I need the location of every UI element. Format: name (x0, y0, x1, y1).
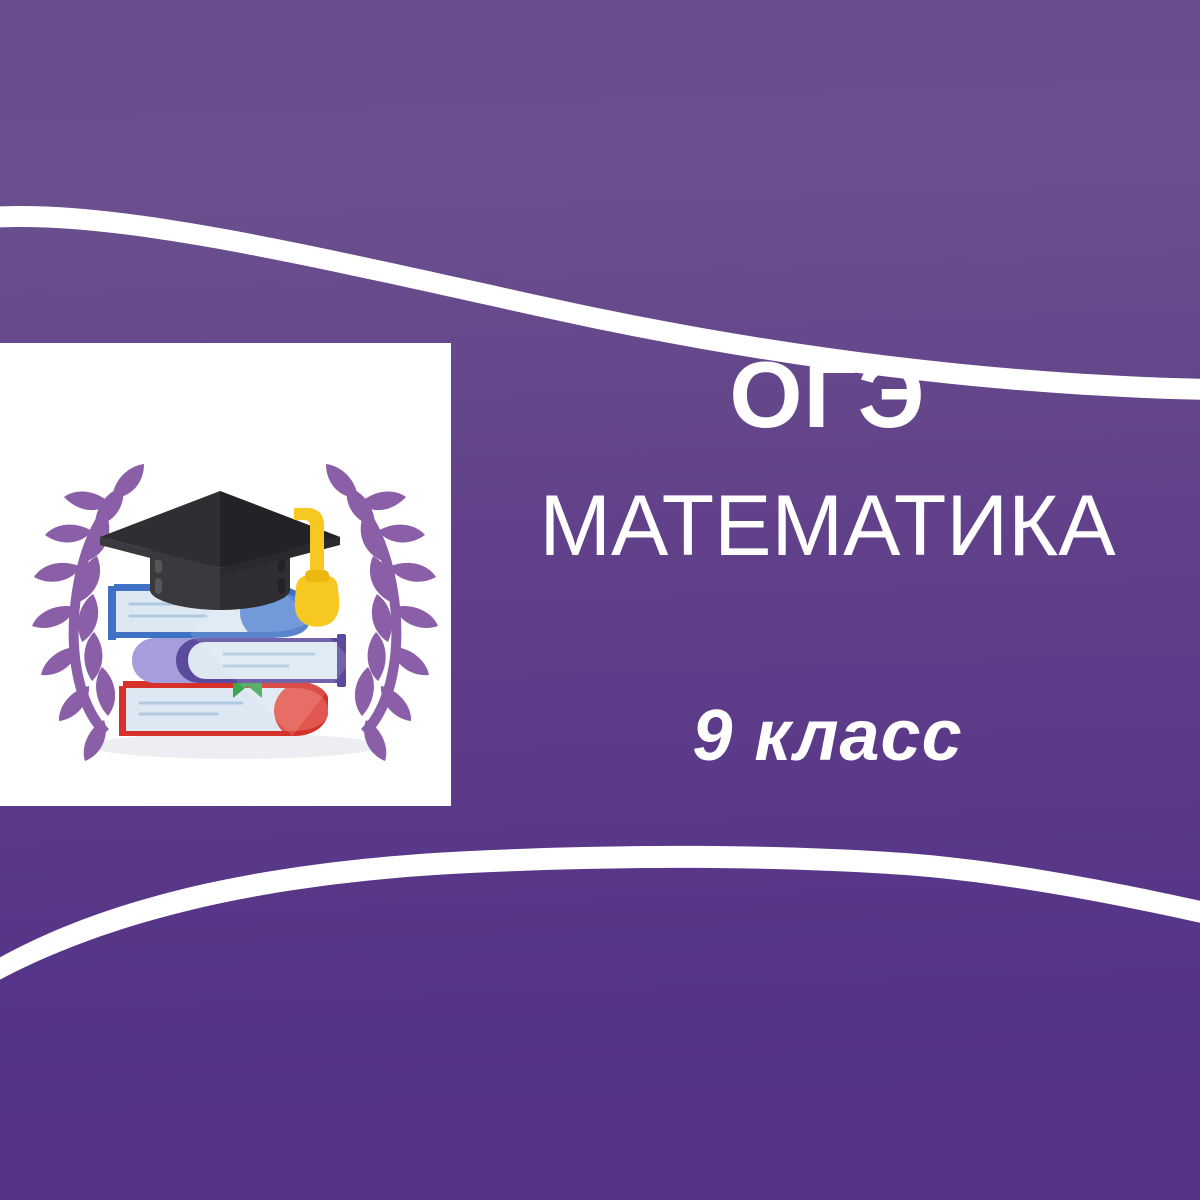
ground-shadow-icon (92, 733, 378, 759)
graduation-cap-on-books-with-laurel-wreath-icon (0, 398, 451, 798)
illustration-panel (0, 343, 451, 806)
laurel-branch-right-icon (326, 464, 438, 761)
bottom-swoosh-curve (0, 846, 1200, 985)
page-title-subject: МАТЕМАТИКА (455, 483, 1200, 569)
title-block: ОГЭ МАТЕМАТИКА 9 класс (455, 330, 1200, 830)
page-subtitle-grade: 9 класс (455, 700, 1200, 772)
page-title-exam: ОГЭ (455, 348, 1200, 442)
presentation-slide: ОГЭ МАТЕМАТИКА 9 класс (0, 0, 1200, 1200)
